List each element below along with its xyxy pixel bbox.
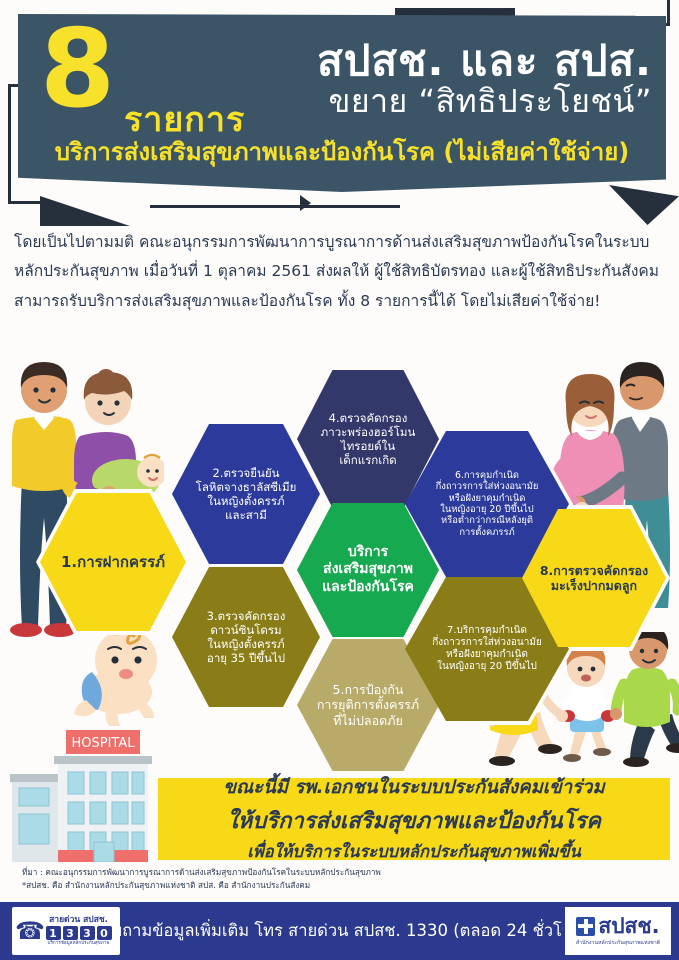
hex-center-line-3: และป้องกันโรค — [301, 579, 435, 596]
hotline-label: สายด่วน สปสช. — [37, 916, 120, 925]
hex-5-line-3: ที่ไม่ปลอดภัย — [301, 713, 435, 728]
nhso-logo[interactable]: สปสช. สำนักงานหลักประกันสุขภาพแห่งชาติ — [563, 905, 673, 957]
hex-2-line-3: ในหญิงตั้งครรภ์ — [176, 494, 316, 508]
hex-3-line-4: อายุ 35 ปีขึ้นไป — [176, 651, 316, 665]
hex-5-line-2: การยุติการตั้งครรภ์ — [301, 697, 435, 712]
nhso-logo-name: สปสช. — [598, 916, 659, 937]
bottom-banner: ขณะนี้มี รพ.เอกชนในระบบประกันสังคมเข้าร่… — [158, 778, 670, 860]
infographic-page: 8 รายการ สปสช. และ สปส. ขยาย “สิทธิประโย… — [0, 0, 679, 960]
footnote-line-2: *สปสช. คือ สำนักงานหลักประกันสุขภาพแห่งช… — [22, 879, 662, 892]
hex-4-line-4: เด็กแรกเกิด — [301, 453, 435, 467]
footer-bar: สอบถามข้อมูลเพิ่มเติม โทร สายด่วน สปสช. … — [0, 902, 679, 960]
hex-4-line-2: ภาวะพร่องฮอร์โมน — [301, 425, 435, 439]
hex-6-line-1: 6.การคุมกำเนิด — [409, 470, 565, 481]
hex-3-line-2: ดาวน์ซินโดรม — [176, 623, 316, 637]
nhso-logo-subtitle: สำนักงานหลักประกันสุขภาพแห่งชาติ — [576, 939, 660, 947]
source-footnote: ที่มา : คณะอนุกรรมการพัฒนาการบูรณาการด้า… — [22, 866, 662, 891]
hotline-digit-4: 0 — [97, 926, 112, 940]
hotline-sublabel: บริการข้อมูลหลักประกันสุขภาพ — [37, 941, 120, 946]
hex-5-line-1: 5.การป้องกัน — [301, 682, 435, 697]
hex-7-line-2: กึ่งถาวรการใส่ห่วงอนามัย — [409, 637, 565, 649]
hex-2-line-2: โลหิตจางธาลัสซีเมีย — [176, 480, 316, 494]
banner-line-1: ขณะนี้มี รพ.เอกชนในระบบประกันสังคมเข้าร่… — [223, 773, 604, 802]
hex-6-line-5: หรือต่ำกว่ากรณีหลังยุติ — [409, 515, 565, 526]
hex-7-line-4: ในหญิงอายุ 20 ปีขึ้นไป — [409, 661, 565, 673]
hotline-digit-1: 1 — [46, 926, 61, 940]
hex-6-line-3: หรือฝังยาคุมกำเนิด — [409, 493, 565, 504]
phone-icon: ☎ — [15, 919, 37, 943]
hotline-digit-2: 3 — [63, 926, 78, 940]
hex-3-line-1: 3.ตรวจคัดกรอง — [176, 609, 316, 623]
hex-4-line-1: 4.ตรวจคัดกรอง — [301, 411, 435, 425]
hotline-digits: 1 3 3 0 — [37, 926, 120, 940]
footer-divider — [0, 898, 679, 902]
hex-4-line-3: ไทรอยด์ใน — [301, 439, 435, 453]
hex-7-line-1: 7.บริการคุมกำเนิด — [409, 625, 565, 637]
footnote-line-1: ที่มา : คณะอนุกรรมการพัฒนาการบูรณาการด้า… — [22, 866, 662, 879]
hex-6-line-6: การตั้งคภรรภ์ — [409, 527, 565, 538]
hex-1-line-1: 1.การฝากครรภ์ — [44, 553, 182, 571]
medical-cross-icon — [576, 917, 595, 936]
hex-2-line-1: 2.ตรวจยืนยัน — [176, 466, 316, 480]
hotline-1330-logo[interactable]: ☎ สายด่วน สปสช. 1 3 3 0 บริการข้อมูลหลัก… — [12, 907, 120, 955]
hex-center-line-1: บริการ — [301, 544, 435, 561]
hex-6-line-4: ในหญิงอายุ 20 ปีขึ้นไป — [409, 504, 565, 515]
banner-line-2: ให้บริการส่งเสริมสุขภาพและป้องกันโรค — [227, 803, 601, 838]
hotline-digit-3: 3 — [80, 926, 95, 940]
banner-line-3: เพื่อให้บริการในระบบหลักประกันสุขภาพเพิ่… — [247, 839, 581, 865]
hex-center-line-2: ส่งเสริมสุขภาพ — [301, 561, 435, 578]
hex-6-line-2: กึ่งถาวรการใส่ห่วงอนามัย — [409, 481, 565, 492]
hex-8-line-2: มะเร็งปากมดลูก — [526, 578, 662, 593]
hex-7-line-3: หรือฝังยาคุมกำเนิด — [409, 649, 565, 661]
hex-2-line-4: และสามี — [176, 508, 316, 522]
hexagon-cluster: 1.การฝากครรภ์ 2.ตรวจยืนยัน โลหิตจางธาลัส… — [0, 0, 679, 800]
hex-3-line-3: ในหญิงตั้งครรภ์ — [176, 637, 316, 651]
hex-8-line-1: 8.การตรวจคัดกรอง — [526, 563, 662, 578]
